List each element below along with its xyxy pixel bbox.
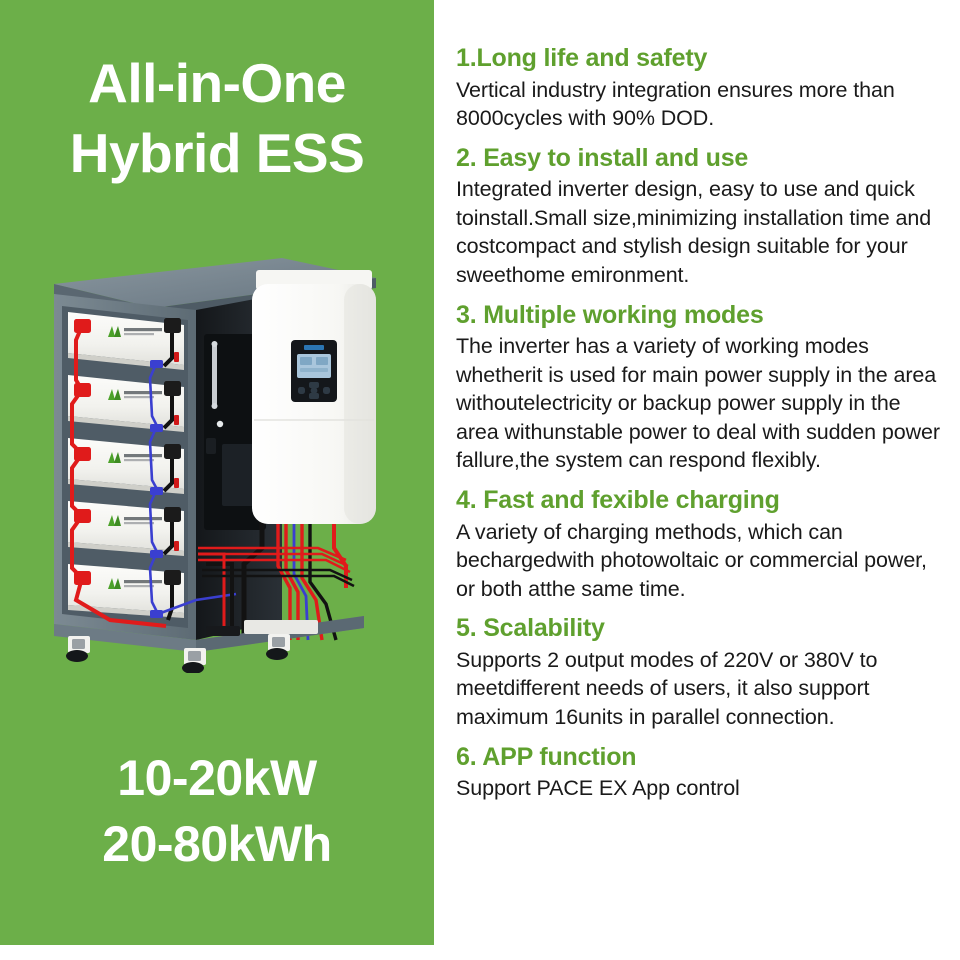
feature-body: Integrated inverter design, easy to use … (456, 175, 942, 289)
caster-wheel (66, 636, 90, 662)
feature-heading: 4. Fast and fexible charging (456, 486, 942, 516)
feature-item-4: 4. Fast and fexible charging A variety o… (456, 486, 942, 603)
product-image (46, 248, 396, 673)
hybrid-inverter (252, 270, 376, 524)
feature-item-6: 6. APP function Support PACE EX App cont… (456, 743, 942, 803)
page-title-line-2: Hybrid ESS (22, 118, 412, 188)
feature-heading: 5. Scalability (456, 614, 942, 644)
feature-item-5: 5. Scalability Supports 2 output modes o… (456, 614, 942, 731)
feature-heading: 1.Long life and safety (456, 44, 942, 74)
inverter-display-panel (291, 340, 337, 402)
left-green-panel: All-in-One Hybrid ESS (0, 0, 434, 945)
feature-item-2: 2. Easy to install and use Integrated in… (456, 144, 942, 290)
feature-heading: 6. APP function (456, 743, 942, 773)
feature-heading: 3. Multiple working modes (456, 301, 942, 331)
spec-power: 10-20kW (0, 745, 434, 811)
feature-body: The inverter has a variety of working mo… (456, 332, 942, 475)
caster-wheel (266, 634, 290, 660)
page-title: All-in-One Hybrid ESS (0, 0, 434, 189)
feature-item-1: 1.Long life and safety Vertical industry… (456, 44, 942, 133)
product-infographic: All-in-One Hybrid ESS (0, 0, 960, 960)
page-title-line-1: All-in-One (22, 48, 412, 118)
feature-body: Vertical industry integration ensures mo… (456, 76, 942, 133)
feature-item-3: 3. Multiple working modes The inverter h… (456, 301, 942, 475)
feature-heading: 2. Easy to install and use (456, 144, 942, 174)
spec-block: 10-20kW 20-80kWh (0, 745, 434, 877)
feature-body: Supports 2 output modes of 220V or 380V … (456, 646, 942, 732)
spec-capacity: 20-80kWh (0, 811, 434, 877)
features-panel: 1.Long life and safety Vertical industry… (434, 0, 960, 960)
feature-body: Support PACE EX App control (456, 774, 942, 803)
feature-body: A variety of charging methods, which can… (456, 518, 942, 604)
caster-wheel (182, 648, 206, 673)
